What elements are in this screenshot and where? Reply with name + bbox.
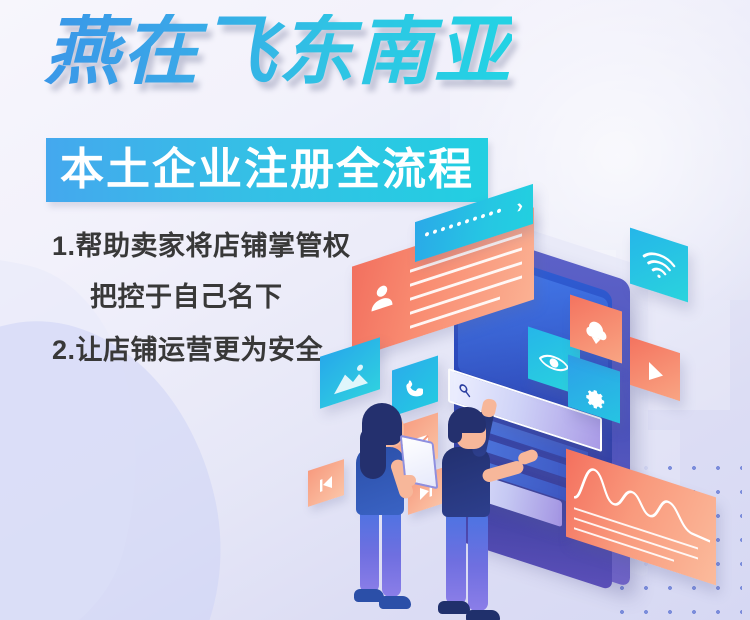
woman-leg-left <box>360 505 379 593</box>
man-sideburn <box>448 419 462 443</box>
woman-hand <box>400 475 416 486</box>
isometric-illustration: › <box>330 215 750 620</box>
man-shirt <box>442 447 490 517</box>
subtitle-band-label: 本土企业注册全流程 <box>60 148 474 192</box>
password-dots-icon <box>425 208 501 237</box>
man-leg-right <box>468 511 488 611</box>
woman-leg-right <box>382 505 401 597</box>
user-avatar-icon <box>360 264 404 330</box>
man-shoe-right <box>466 610 500 620</box>
man-hand-pointing <box>517 448 540 466</box>
woman-shoe-right <box>379 596 411 609</box>
man-shoe-left <box>438 601 470 614</box>
person-man-touching-screen <box>434 391 544 620</box>
poster-canvas: 燕在飞东南亚 本土企业注册全流程 1.帮助卖家将店铺掌管权 把控于自己名下 2.… <box>0 0 750 620</box>
person-woman-with-tablet <box>350 393 442 618</box>
page-title: 燕在飞东南亚 <box>44 14 512 90</box>
chevron-right-icon[interactable]: › <box>517 196 523 217</box>
man-leg-left <box>446 509 466 605</box>
subtitle-band: 本土企业注册全流程 <box>46 138 488 202</box>
woman-hair-back <box>360 427 386 479</box>
rewind-icon <box>308 459 344 507</box>
